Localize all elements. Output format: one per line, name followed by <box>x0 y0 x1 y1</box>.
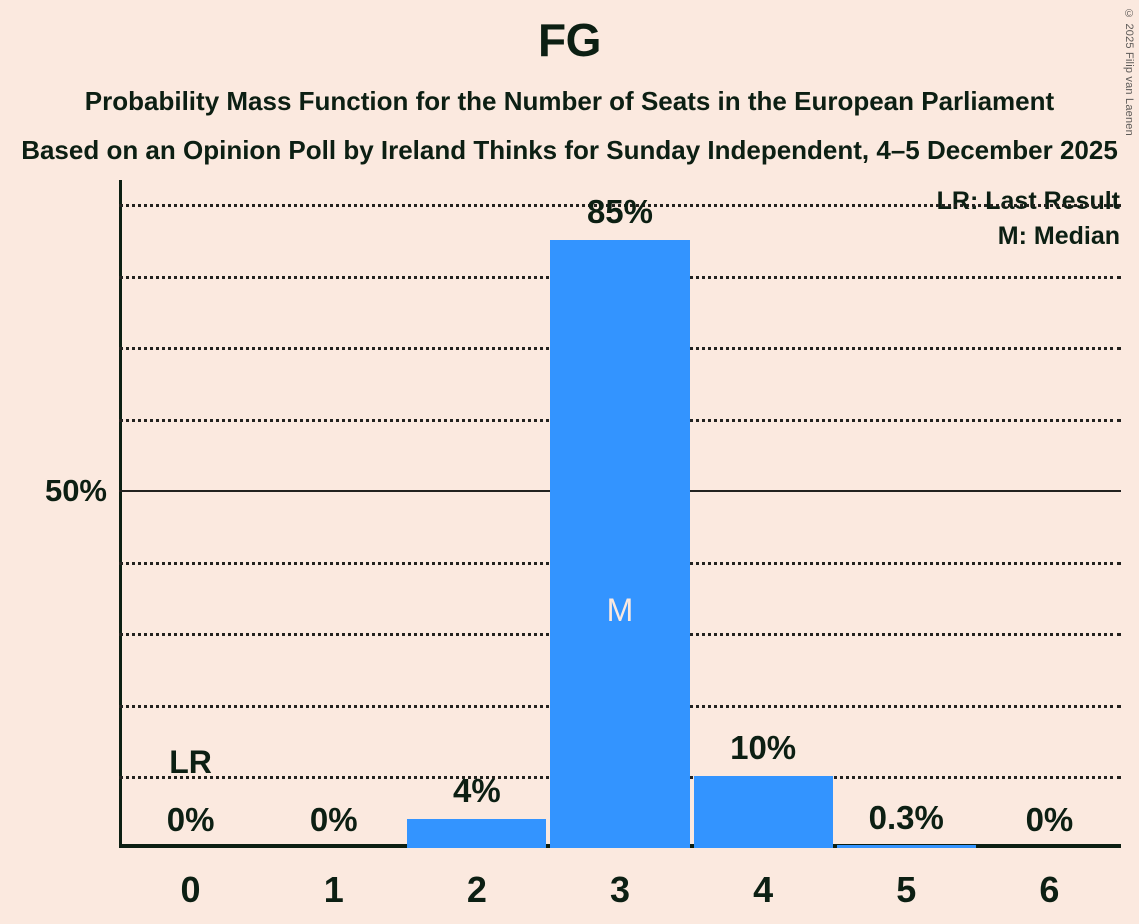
bar-value-label: 85% <box>548 195 691 228</box>
chart-plot-area: 0%LR0%4%85%M10%0.3%0% 50% <box>119 180 1121 848</box>
x-axis-tick-label: 5 <box>835 872 978 908</box>
x-axis-tick-label: 4 <box>692 872 835 908</box>
y-axis-tick-label: 50% <box>11 475 107 506</box>
bar-value-label: 10% <box>692 731 835 764</box>
x-axis-tick-label: 0 <box>119 872 262 908</box>
median-marker: M <box>548 594 691 626</box>
bar[interactable] <box>407 819 546 848</box>
x-axis-tick-label: 3 <box>548 872 691 908</box>
last-result-marker: LR <box>119 746 262 778</box>
bar-value-label: 0% <box>978 803 1121 836</box>
bar-value-label: 4% <box>405 774 548 807</box>
chart-source-note: Based on an Opinion Poll by Ireland Thin… <box>0 137 1139 163</box>
bar-value-label: 0% <box>119 803 262 836</box>
x-axis-tick-label: 1 <box>262 872 405 908</box>
copyright-notice: © 2025 Filip van Laenen <box>1123 8 1135 136</box>
page-title: FG <box>0 17 1139 63</box>
x-axis-tick-label: 2 <box>405 872 548 908</box>
bar[interactable] <box>694 776 833 848</box>
bar[interactable] <box>837 845 976 848</box>
bar-value-label: 0% <box>262 803 405 836</box>
chart-subtitle: Probability Mass Function for the Number… <box>0 88 1139 114</box>
bar-value-label: 0.3% <box>835 801 978 834</box>
bar[interactable] <box>550 240 689 848</box>
x-axis-tick-label: 6 <box>978 872 1121 908</box>
